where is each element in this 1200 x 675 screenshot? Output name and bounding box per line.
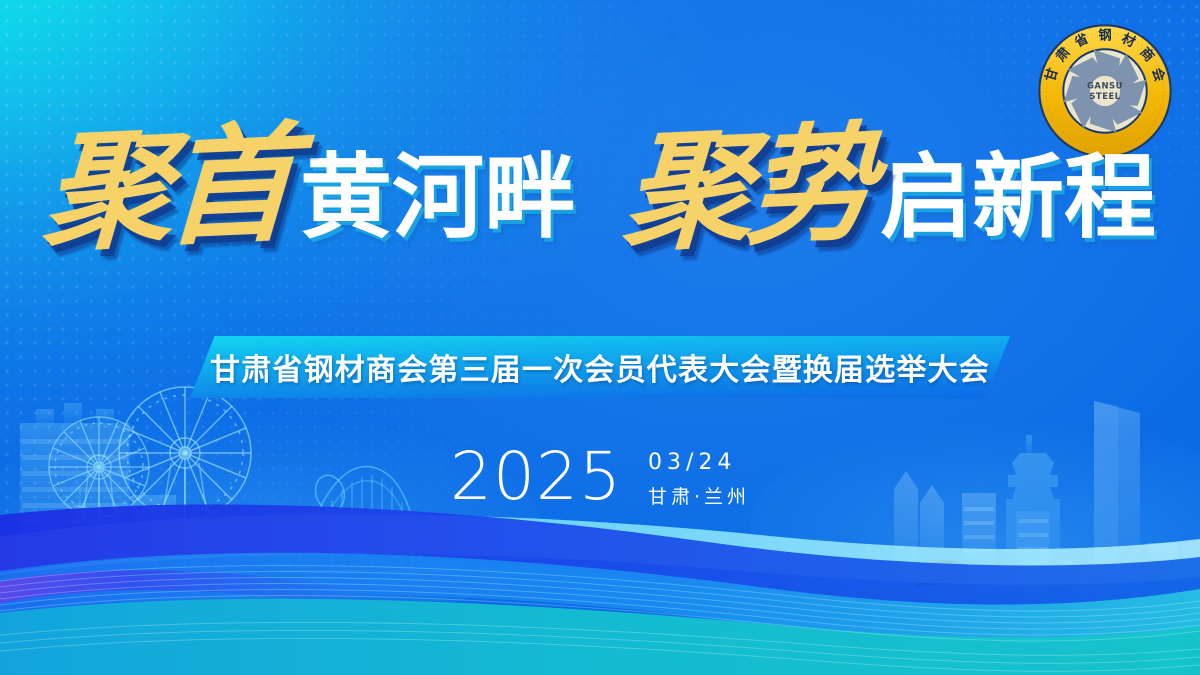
headline-regular-1: 黄河畔: [300, 151, 576, 243]
subtitle-banner: 甘肃省钢材商会第三届一次会员代表大会暨换届选举大会: [190, 336, 1010, 398]
headline: 聚首 黄河畔 聚势 启新程: [0, 78, 1200, 293]
subtitle-text: 甘肃省钢材商会第三届一次会员代表大会暨换届选举大会: [190, 336, 1010, 398]
headline-calligraphy-1: 聚首: [41, 119, 295, 258]
poster-canvas: GANSU STEEL 甘 肃 省 钢 材 商 会 聚首 黄河畔 聚势 启新程: [0, 0, 1200, 675]
event-location: 甘肃·兰州: [648, 482, 750, 509]
headline-phrase-1: 聚首 黄河畔: [44, 125, 576, 247]
event-month-day: 03/24: [648, 450, 750, 475]
event-date-block: 2025 03/24 甘肃·兰州: [450, 444, 750, 510]
event-date-details: 03/24 甘肃·兰州: [648, 446, 750, 509]
headline-regular-2: 启新程: [880, 151, 1156, 243]
headline-phrase-2: 聚势 启新程: [624, 125, 1156, 247]
svg-text:钢: 钢: [1098, 27, 1111, 44]
headline-calligraphy-2: 聚势: [621, 119, 875, 258]
event-year: 2025: [450, 444, 622, 510]
